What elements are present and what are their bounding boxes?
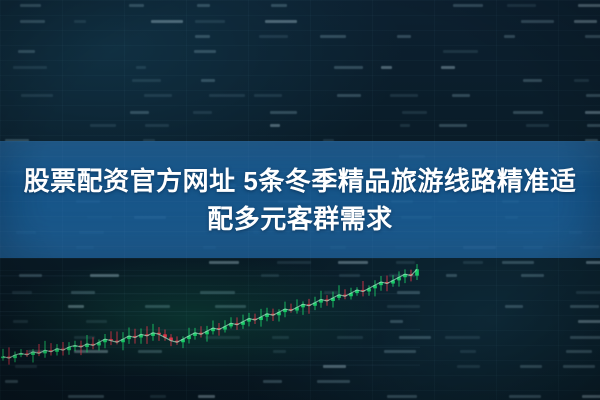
- vignette-overlay: [0, 0, 600, 400]
- banner-image: 股票配资官方网址 5条冬季精品旅游线路精准适 配多元客群需求: [0, 0, 600, 400]
